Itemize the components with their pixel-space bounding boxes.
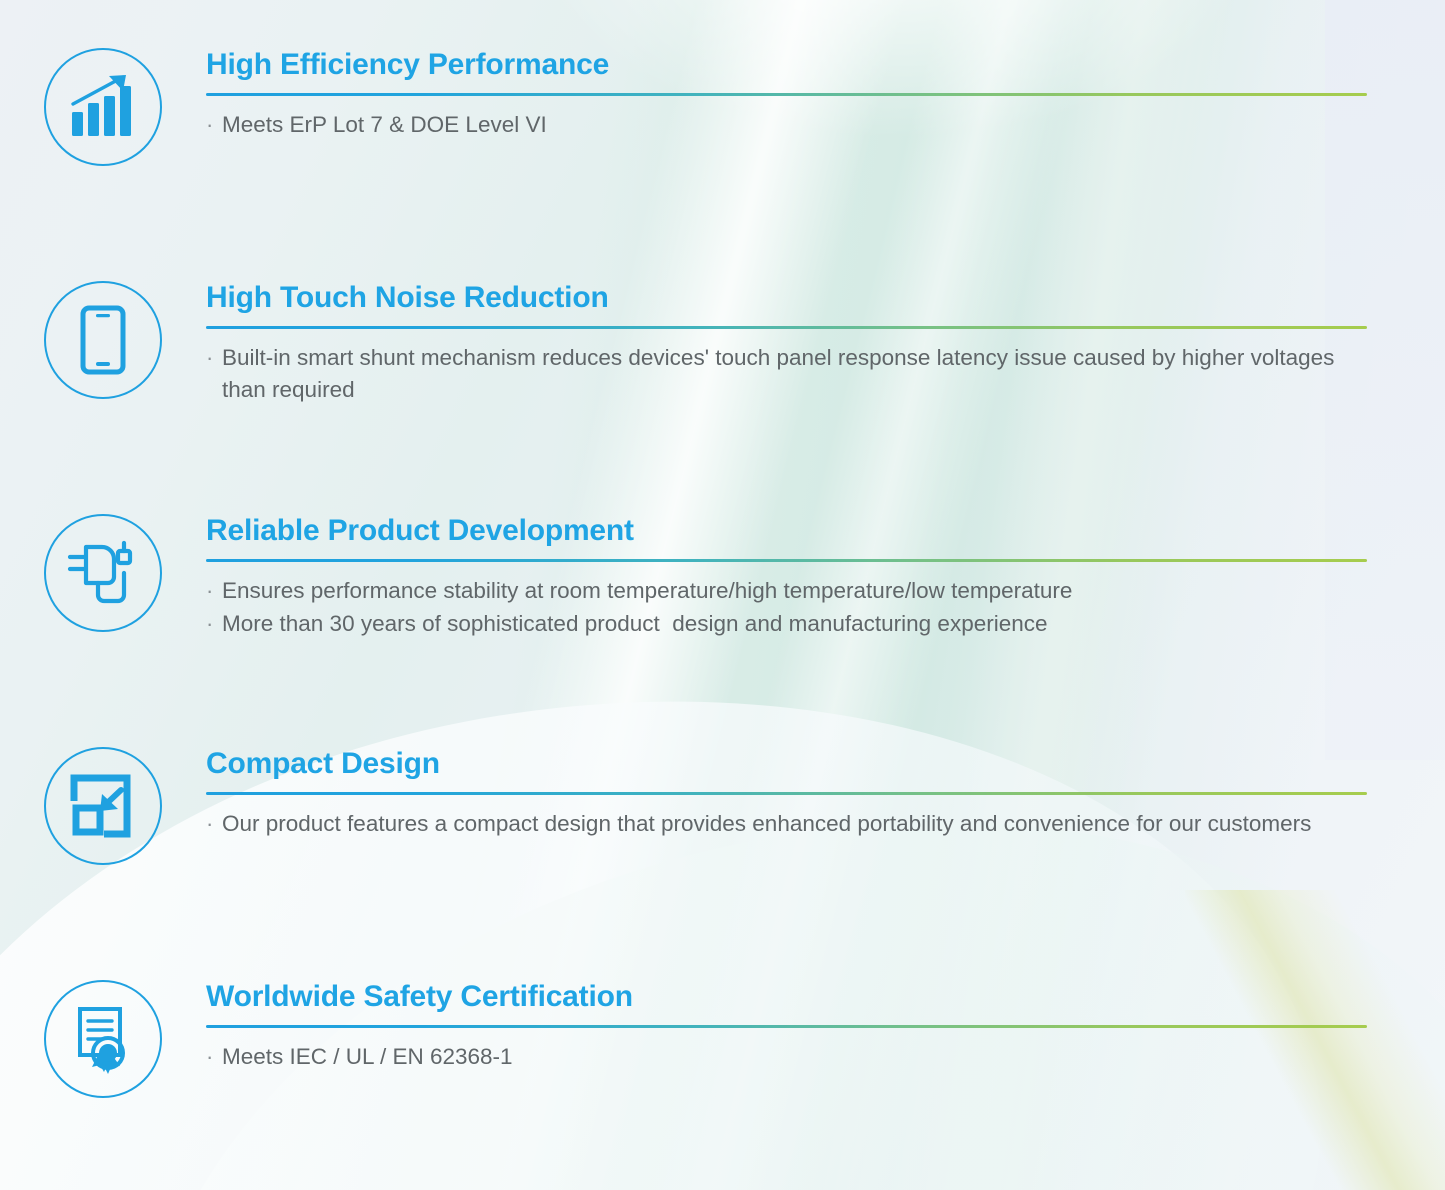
certificate-award-icon xyxy=(44,980,162,1098)
feature-title: High Touch Noise Reduction xyxy=(206,281,1367,315)
feature-icon-container xyxy=(0,281,206,399)
feature-bullets: · Meets IEC / UL / EN 62368-1 xyxy=(206,1041,1367,1073)
feature-text-container: Compact Design · Our product features a … xyxy=(206,747,1445,840)
smartphone-icon xyxy=(44,281,162,399)
feature-bullets: · Our product features a compact design … xyxy=(206,808,1367,840)
bullet-text: Meets IEC / UL / EN 62368-1 xyxy=(222,1041,1367,1073)
list-item: · Meets ErP Lot 7 & DOE Level VI xyxy=(206,109,1367,141)
feature-list-panel: High Efficiency Performance · Meets ErP … xyxy=(0,0,1445,1190)
feature-row: Reliable Product Development · Ensures p… xyxy=(0,514,1445,639)
feature-text-container: High Efficiency Performance · Meets ErP … xyxy=(206,48,1445,141)
feature-divider xyxy=(206,1025,1367,1028)
feature-divider xyxy=(206,792,1367,795)
bullet-text: Our product features a compact design th… xyxy=(222,808,1367,840)
power-adapter-icon xyxy=(44,514,162,632)
feature-row: Compact Design · Our product features a … xyxy=(0,747,1445,865)
bullet-marker: · xyxy=(206,109,222,140)
feature-title: Reliable Product Development xyxy=(206,514,1367,548)
bullet-marker: · xyxy=(206,575,222,606)
feature-title: Worldwide Safety Certification xyxy=(206,980,1367,1014)
list-item: · More than 30 years of sophisticated pr… xyxy=(206,608,1367,640)
feature-divider xyxy=(206,559,1367,562)
feature-icon-container xyxy=(0,48,206,166)
feature-title: Compact Design xyxy=(206,747,1367,781)
bullet-text: Ensures performance stability at room te… xyxy=(222,575,1367,607)
list-item: · Built-in smart shunt mechanism reduces… xyxy=(206,342,1367,406)
bullet-marker: · xyxy=(206,808,222,839)
feature-bullets: · Ensures performance stability at room … xyxy=(206,575,1367,640)
bar-chart-growth-icon xyxy=(44,48,162,166)
feature-text-container: High Touch Noise Reduction · Built-in sm… xyxy=(206,281,1445,405)
feature-divider xyxy=(206,326,1367,329)
compact-resize-icon xyxy=(44,747,162,865)
feature-row: Worldwide Safety Certification · Meets I… xyxy=(0,980,1445,1098)
list-item: · Meets IEC / UL / EN 62368-1 xyxy=(206,1041,1367,1073)
feature-row: High Touch Noise Reduction · Built-in sm… xyxy=(0,281,1445,405)
list-item: · Ensures performance stability at room … xyxy=(206,575,1367,607)
bullet-marker: · xyxy=(206,608,222,639)
feature-title: High Efficiency Performance xyxy=(206,48,1367,82)
feature-text-container: Reliable Product Development · Ensures p… xyxy=(206,514,1445,639)
bullet-text: Built-in smart shunt mechanism reduces d… xyxy=(222,342,1367,406)
feature-icon-container xyxy=(0,747,206,865)
feature-icon-container xyxy=(0,514,206,632)
bullet-marker: · xyxy=(206,1041,222,1072)
list-item: · Our product features a compact design … xyxy=(206,808,1367,840)
feature-text-container: Worldwide Safety Certification · Meets I… xyxy=(206,980,1445,1073)
bullet-marker: · xyxy=(206,342,222,373)
bullet-text: More than 30 years of sophisticated prod… xyxy=(222,608,1367,640)
bullet-text: Meets ErP Lot 7 & DOE Level VI xyxy=(222,109,1367,141)
feature-bullets: · Built-in smart shunt mechanism reduces… xyxy=(206,342,1367,406)
feature-divider xyxy=(206,93,1367,96)
feature-bullets: · Meets ErP Lot 7 & DOE Level VI xyxy=(206,109,1367,141)
feature-row: High Efficiency Performance · Meets ErP … xyxy=(0,48,1445,166)
feature-icon-container xyxy=(0,980,206,1098)
